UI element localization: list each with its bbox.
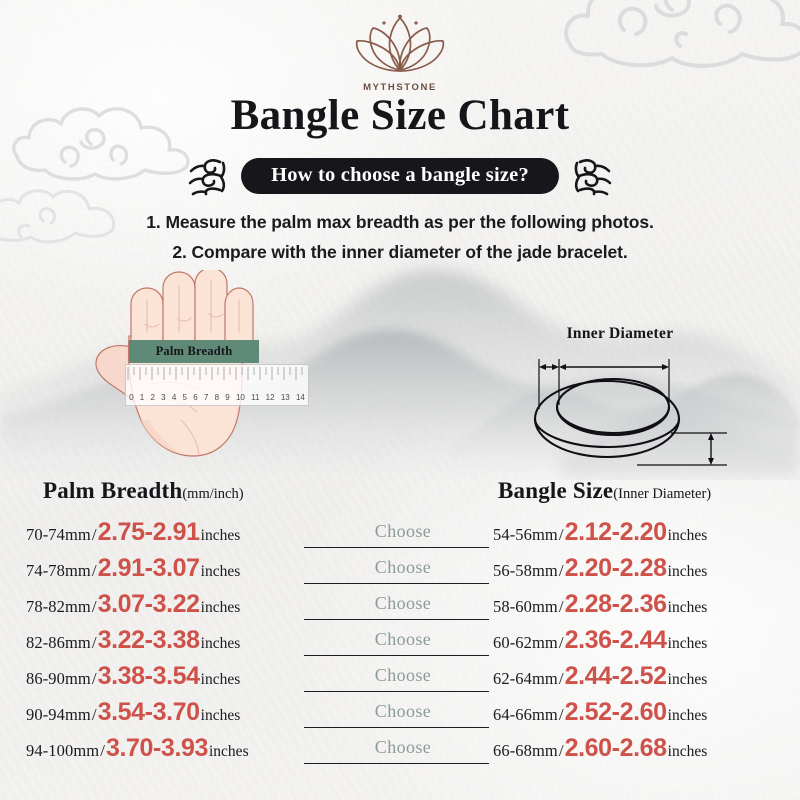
separator: / (91, 633, 98, 653)
bangle-size-heading-sub: (Inner Diameter) (613, 486, 711, 502)
table-row: 74-78mm/2.91-3.07inches Choose 56-58mm/2… (0, 556, 800, 592)
scroll-flourish-icon (187, 155, 227, 197)
palm-breadth-heading-main: Palm Breadth (43, 478, 182, 503)
bangle-mm: 64-66mm (493, 705, 558, 725)
choose-cell[interactable]: Choose (318, 701, 488, 722)
bangle-inch: 2.20-2.28 (565, 556, 667, 581)
bangle-inch: 2.44-2.52 (565, 664, 667, 689)
bangle-inner-diameter-illustration: Inner Diameter (505, 325, 735, 475)
choose-rule (304, 547, 489, 548)
separator: / (558, 741, 565, 761)
bangle-mm: 56-58mm (493, 561, 558, 581)
inch-unit: inches (200, 527, 241, 545)
palm-mm: 86-90mm (26, 669, 91, 689)
inch-unit: inches (667, 599, 708, 617)
scroll-flourish-icon (573, 155, 613, 197)
table-headings: Palm Breadth(mm/inch) Bangle Size(Inner … (0, 478, 800, 508)
bangle-inch: 2.12-2.20 (565, 520, 667, 545)
ruler-tick-label: 9 (225, 393, 229, 402)
palm-measurement-illustration: Palm Breadth (85, 270, 325, 475)
palm-breadth-value: 78-82mm/3.07-3.22inches (26, 592, 240, 617)
palm-breadth-value: 82-86mm/3.22-3.38inches (26, 628, 240, 653)
page-title: Bangle Size Chart (0, 91, 800, 140)
inch-unit: inches (208, 743, 249, 761)
choose-label[interactable]: Choose (375, 593, 431, 613)
bangle-size-value: 60-62mm/2.36-2.44inches (493, 628, 707, 653)
choose-rule (304, 763, 489, 764)
instruction-step-1: 1. Measure the palm max breadth as per t… (0, 207, 800, 237)
palm-inch: 3.07-3.22 (98, 592, 200, 617)
table-row: 86-90mm/3.38-3.54inches Choose 62-64mm/2… (0, 664, 800, 700)
ruler-tick-label: 7 (204, 393, 208, 402)
table-row: 70-74mm/2.75-2.91inches Choose 54-56mm/2… (0, 520, 800, 556)
separator: / (558, 669, 565, 689)
ruler-tick-label: 11 (251, 393, 259, 402)
ruler-tick-label: 3 (161, 393, 165, 402)
bangle-size-heading-main: Bangle Size (498, 478, 613, 503)
bangle-mm: 66-68mm (493, 741, 558, 761)
ruler-ticks-icon (126, 367, 308, 389)
ruler-tick-label: 0 (129, 393, 133, 402)
bangle-mm: 60-62mm (493, 633, 558, 653)
inch-unit: inches (667, 563, 708, 581)
bangle-size-value: 64-66mm/2.52-2.60inches (493, 700, 707, 725)
choose-label[interactable]: Choose (375, 665, 431, 685)
ruler-tick-label: 6 (193, 393, 197, 402)
choose-rule (304, 619, 489, 620)
separator: / (91, 597, 98, 617)
palm-breadth-value: 90-94mm/3.54-3.70inches (26, 700, 240, 725)
table-row: 82-86mm/3.22-3.38inches Choose 60-62mm/2… (0, 628, 800, 664)
ruler-numbers: 0 1 2 3 4 5 6 7 8 9 10 11 12 13 14 (126, 393, 308, 402)
palm-mm: 82-86mm (26, 633, 91, 653)
bangle-inch: 2.60-2.68 (565, 736, 667, 761)
separator: / (558, 597, 565, 617)
bangle-size-chart-page: MYTHSTONE Bangle Size Chart How to choos… (0, 0, 800, 800)
inch-unit: inches (667, 743, 708, 761)
inch-unit: inches (200, 671, 241, 689)
choose-label[interactable]: Choose (375, 521, 431, 541)
choose-label[interactable]: Choose (375, 737, 431, 757)
inner-diameter-caption: Inner Diameter (505, 325, 735, 343)
ruler: 0 1 2 3 4 5 6 7 8 9 10 11 12 13 14 (125, 364, 309, 406)
palm-inch: 2.75-2.91 (98, 520, 200, 545)
palm-mm: 94-100mm (26, 741, 99, 761)
size-table: 70-74mm/2.75-2.91inches Choose 54-56mm/2… (0, 520, 800, 772)
palm-breadth-band: Palm Breadth (129, 340, 259, 363)
inch-unit: inches (667, 527, 708, 545)
choose-label[interactable]: Choose (375, 629, 431, 649)
choose-rule (304, 727, 489, 728)
lotus-icon (348, 14, 452, 76)
choose-cell[interactable]: Choose (318, 737, 488, 758)
choose-cell[interactable]: Choose (318, 629, 488, 650)
bangle-size-value: 56-58mm/2.20-2.28inches (493, 556, 707, 581)
inch-unit: inches (667, 707, 708, 725)
ruler-tick-label: 14 (296, 393, 305, 402)
separator: / (91, 705, 98, 725)
bangle-mm: 62-64mm (493, 669, 558, 689)
ruler-tick-label: 2 (150, 393, 154, 402)
inch-unit: inches (667, 635, 708, 653)
palm-inch: 3.54-3.70 (98, 700, 200, 725)
palm-breadth-value: 86-90mm/3.38-3.54inches (26, 664, 240, 689)
how-to-banner: How to choose a bangle size? (241, 158, 559, 195)
inch-unit: inches (200, 707, 241, 725)
choose-label[interactable]: Choose (375, 701, 431, 721)
ruler-tick-label: 12 (266, 393, 275, 402)
palm-inch: 2.91-3.07 (98, 556, 200, 581)
bangle-mm: 54-56mm (493, 525, 558, 545)
bangle-size-value: 54-56mm/2.12-2.20inches (493, 520, 707, 545)
inch-unit: inches (200, 599, 241, 617)
palm-inch: 3.38-3.54 (98, 664, 200, 689)
bangle-ring-icon (505, 347, 735, 477)
choose-cell[interactable]: Choose (318, 593, 488, 614)
separator: / (558, 525, 565, 545)
table-row: 78-82mm/3.07-3.22inches Choose 58-60mm/2… (0, 592, 800, 628)
ruler-tick-label: 5 (183, 393, 187, 402)
instructions-list: 1. Measure the palm max breadth as per t… (0, 207, 800, 267)
inch-unit: inches (200, 635, 241, 653)
choose-cell[interactable]: Choose (318, 665, 488, 686)
table-row: 90-94mm/3.54-3.70inches Choose 64-66mm/2… (0, 700, 800, 736)
ruler-tick-label: 1 (140, 393, 144, 402)
inch-unit: inches (200, 563, 241, 581)
brand-logo: MYTHSTONE (0, 14, 800, 93)
table-row: 94-100mm/3.70-3.93inches Choose 66-68mm/… (0, 736, 800, 772)
separator: / (558, 705, 565, 725)
choose-label[interactable]: Choose (375, 557, 431, 577)
choose-cell[interactable]: Choose (318, 521, 488, 542)
instruction-step-2: 2. Compare with the inner diameter of th… (0, 237, 800, 267)
palm-mm: 90-94mm (26, 705, 91, 725)
banner-row: How to choose a bangle size? (0, 155, 800, 197)
ruler-tick-label: 13 (281, 393, 290, 402)
bangle-inch: 2.52-2.60 (565, 700, 667, 725)
bangle-size-value: 66-68mm/2.60-2.68inches (493, 736, 707, 761)
separator: / (558, 561, 565, 581)
choose-cell[interactable]: Choose (318, 557, 488, 578)
choose-rule (304, 691, 489, 692)
palm-mm: 74-78mm (26, 561, 91, 581)
palm-inch: 3.22-3.38 (98, 628, 200, 653)
bangle-size-value: 62-64mm/2.44-2.52inches (493, 664, 707, 689)
ruler-tick-label: 8 (215, 393, 219, 402)
inch-unit: inches (667, 671, 708, 689)
palm-breadth-heading-sub: (mm/inch) (182, 486, 243, 502)
ruler-tick-label: 4 (172, 393, 176, 402)
bangle-size-heading: Bangle Size(Inner Diameter) (498, 478, 711, 504)
palm-breadth-heading: Palm Breadth(mm/inch) (43, 478, 244, 504)
bangle-size-value: 58-60mm/2.28-2.36inches (493, 592, 707, 617)
bangle-inch: 2.28-2.36 (565, 592, 667, 617)
palm-mm: 70-74mm (26, 525, 91, 545)
palm-breadth-value: 94-100mm/3.70-3.93inches (26, 736, 249, 761)
separator: / (91, 561, 98, 581)
ruler-tick-label: 10 (236, 393, 245, 402)
bangle-mm: 58-60mm (493, 597, 558, 617)
palm-breadth-value: 70-74mm/2.75-2.91inches (26, 520, 240, 545)
choose-rule (304, 655, 489, 656)
separator: / (558, 633, 565, 653)
palm-breadth-band-label: Palm Breadth (156, 344, 233, 359)
palm-mm: 78-82mm (26, 597, 91, 617)
palm-inch: 3.70-3.93 (106, 736, 208, 761)
bangle-inch: 2.36-2.44 (565, 628, 667, 653)
separator: / (91, 525, 98, 545)
palm-breadth-value: 74-78mm/2.91-3.07inches (26, 556, 240, 581)
separator: / (91, 669, 98, 689)
separator: / (99, 741, 106, 761)
choose-rule (304, 583, 489, 584)
